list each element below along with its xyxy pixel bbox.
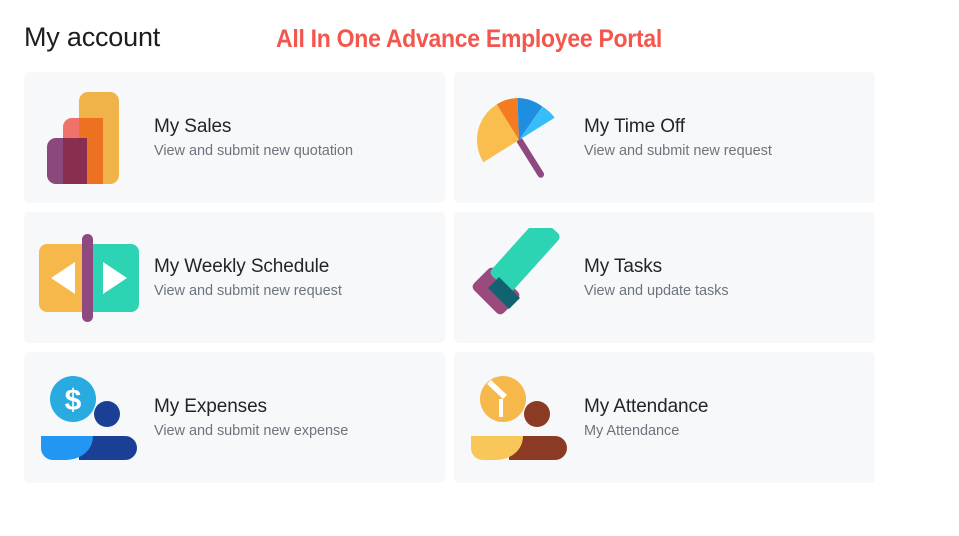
card-body: My Expenses View and submit new expense — [154, 394, 445, 441]
card-subtitle: View and submit new request — [154, 281, 433, 301]
card-title: My Expenses — [154, 394, 433, 419]
card-title: My Weekly Schedule — [154, 254, 433, 279]
card-body: My Weekly Schedule View and submit new r… — [154, 254, 445, 301]
account-cards-grid: My Sales View and submit new quotation — [24, 72, 875, 483]
card-my-tasks[interactable]: My Tasks View and update tasks — [454, 212, 875, 343]
clock-person-icon — [454, 352, 584, 483]
card-subtitle: My Attendance — [584, 421, 863, 441]
card-body: My Tasks View and update tasks — [584, 254, 875, 301]
card-my-weekly-schedule[interactable]: My Weekly Schedule View and submit new r… — [24, 212, 445, 343]
bar-chart-icon — [24, 72, 154, 203]
umbrella-icon — [454, 72, 584, 203]
portal-title: All In One Advance Employee Portal — [276, 24, 662, 54]
card-subtitle: View and submit new request — [584, 141, 863, 161]
card-title: My Attendance — [584, 394, 863, 419]
card-body: My Attendance My Attendance — [584, 394, 875, 441]
card-my-attendance[interactable]: My Attendance My Attendance — [454, 352, 875, 483]
card-subtitle: View and submit new expense — [154, 421, 433, 441]
svg-text:$: $ — [65, 384, 82, 417]
card-body: My Time Off View and submit new request — [584, 114, 875, 161]
page-title: My account — [24, 20, 160, 54]
card-my-expenses[interactable]: $ My Expenses View and submit new expens… — [24, 352, 445, 483]
schedule-arrows-icon — [24, 212, 154, 343]
page-header: My account All In One Advance Employee P… — [0, 0, 959, 72]
checkmark-icon — [454, 212, 584, 343]
dollar-person-icon: $ — [24, 352, 154, 483]
card-body: My Sales View and submit new quotation — [154, 114, 445, 161]
my-account-page: My account All In One Advance Employee P… — [0, 0, 959, 536]
card-title: My Sales — [154, 114, 433, 139]
card-my-sales[interactable]: My Sales View and submit new quotation — [24, 72, 445, 203]
card-title: My Time Off — [584, 114, 863, 139]
card-my-time-off[interactable]: My Time Off View and submit new request — [454, 72, 875, 203]
card-subtitle: View and submit new quotation — [154, 141, 433, 161]
card-title: My Tasks — [584, 254, 863, 279]
card-subtitle: View and update tasks — [584, 281, 863, 301]
